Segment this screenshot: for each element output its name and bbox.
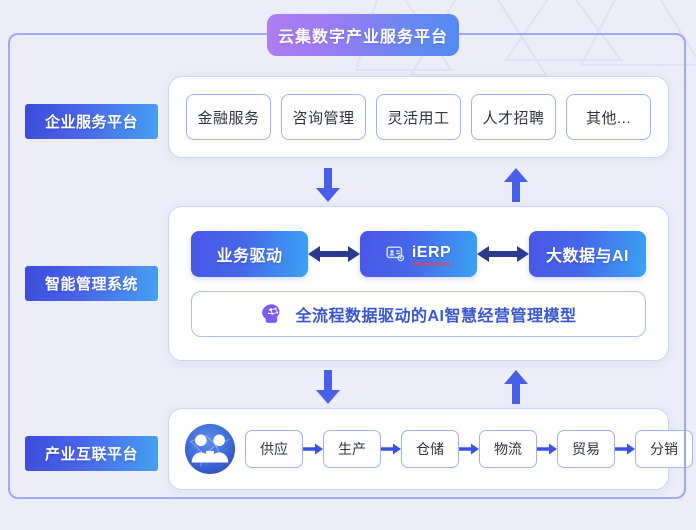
row-label-industrial-internet-platform: 产业互联平台 bbox=[25, 436, 158, 471]
arrow-down-icon bbox=[315, 370, 341, 404]
arrow-down-icon bbox=[315, 168, 341, 202]
arrow-up-icon bbox=[503, 370, 529, 404]
row-label-text: 产业互联平台 bbox=[45, 443, 138, 464]
row-label-text: 智能管理系统 bbox=[45, 273, 138, 294]
row-label-intelligent-management-system: 智能管理系统 bbox=[25, 266, 158, 301]
connector-row1-row2 bbox=[8, 168, 686, 202]
connector-row2-row3 bbox=[8, 370, 686, 404]
platform-title-text: 云集数字产业服务平台 bbox=[278, 23, 448, 47]
platform-title-badge: 云集数字产业服务平台 bbox=[267, 14, 459, 56]
row-label-enterprise-service-platform: 企业服务平台 bbox=[25, 104, 158, 139]
arrow-up-icon bbox=[503, 168, 529, 202]
row-label-text: 企业服务平台 bbox=[45, 111, 138, 132]
